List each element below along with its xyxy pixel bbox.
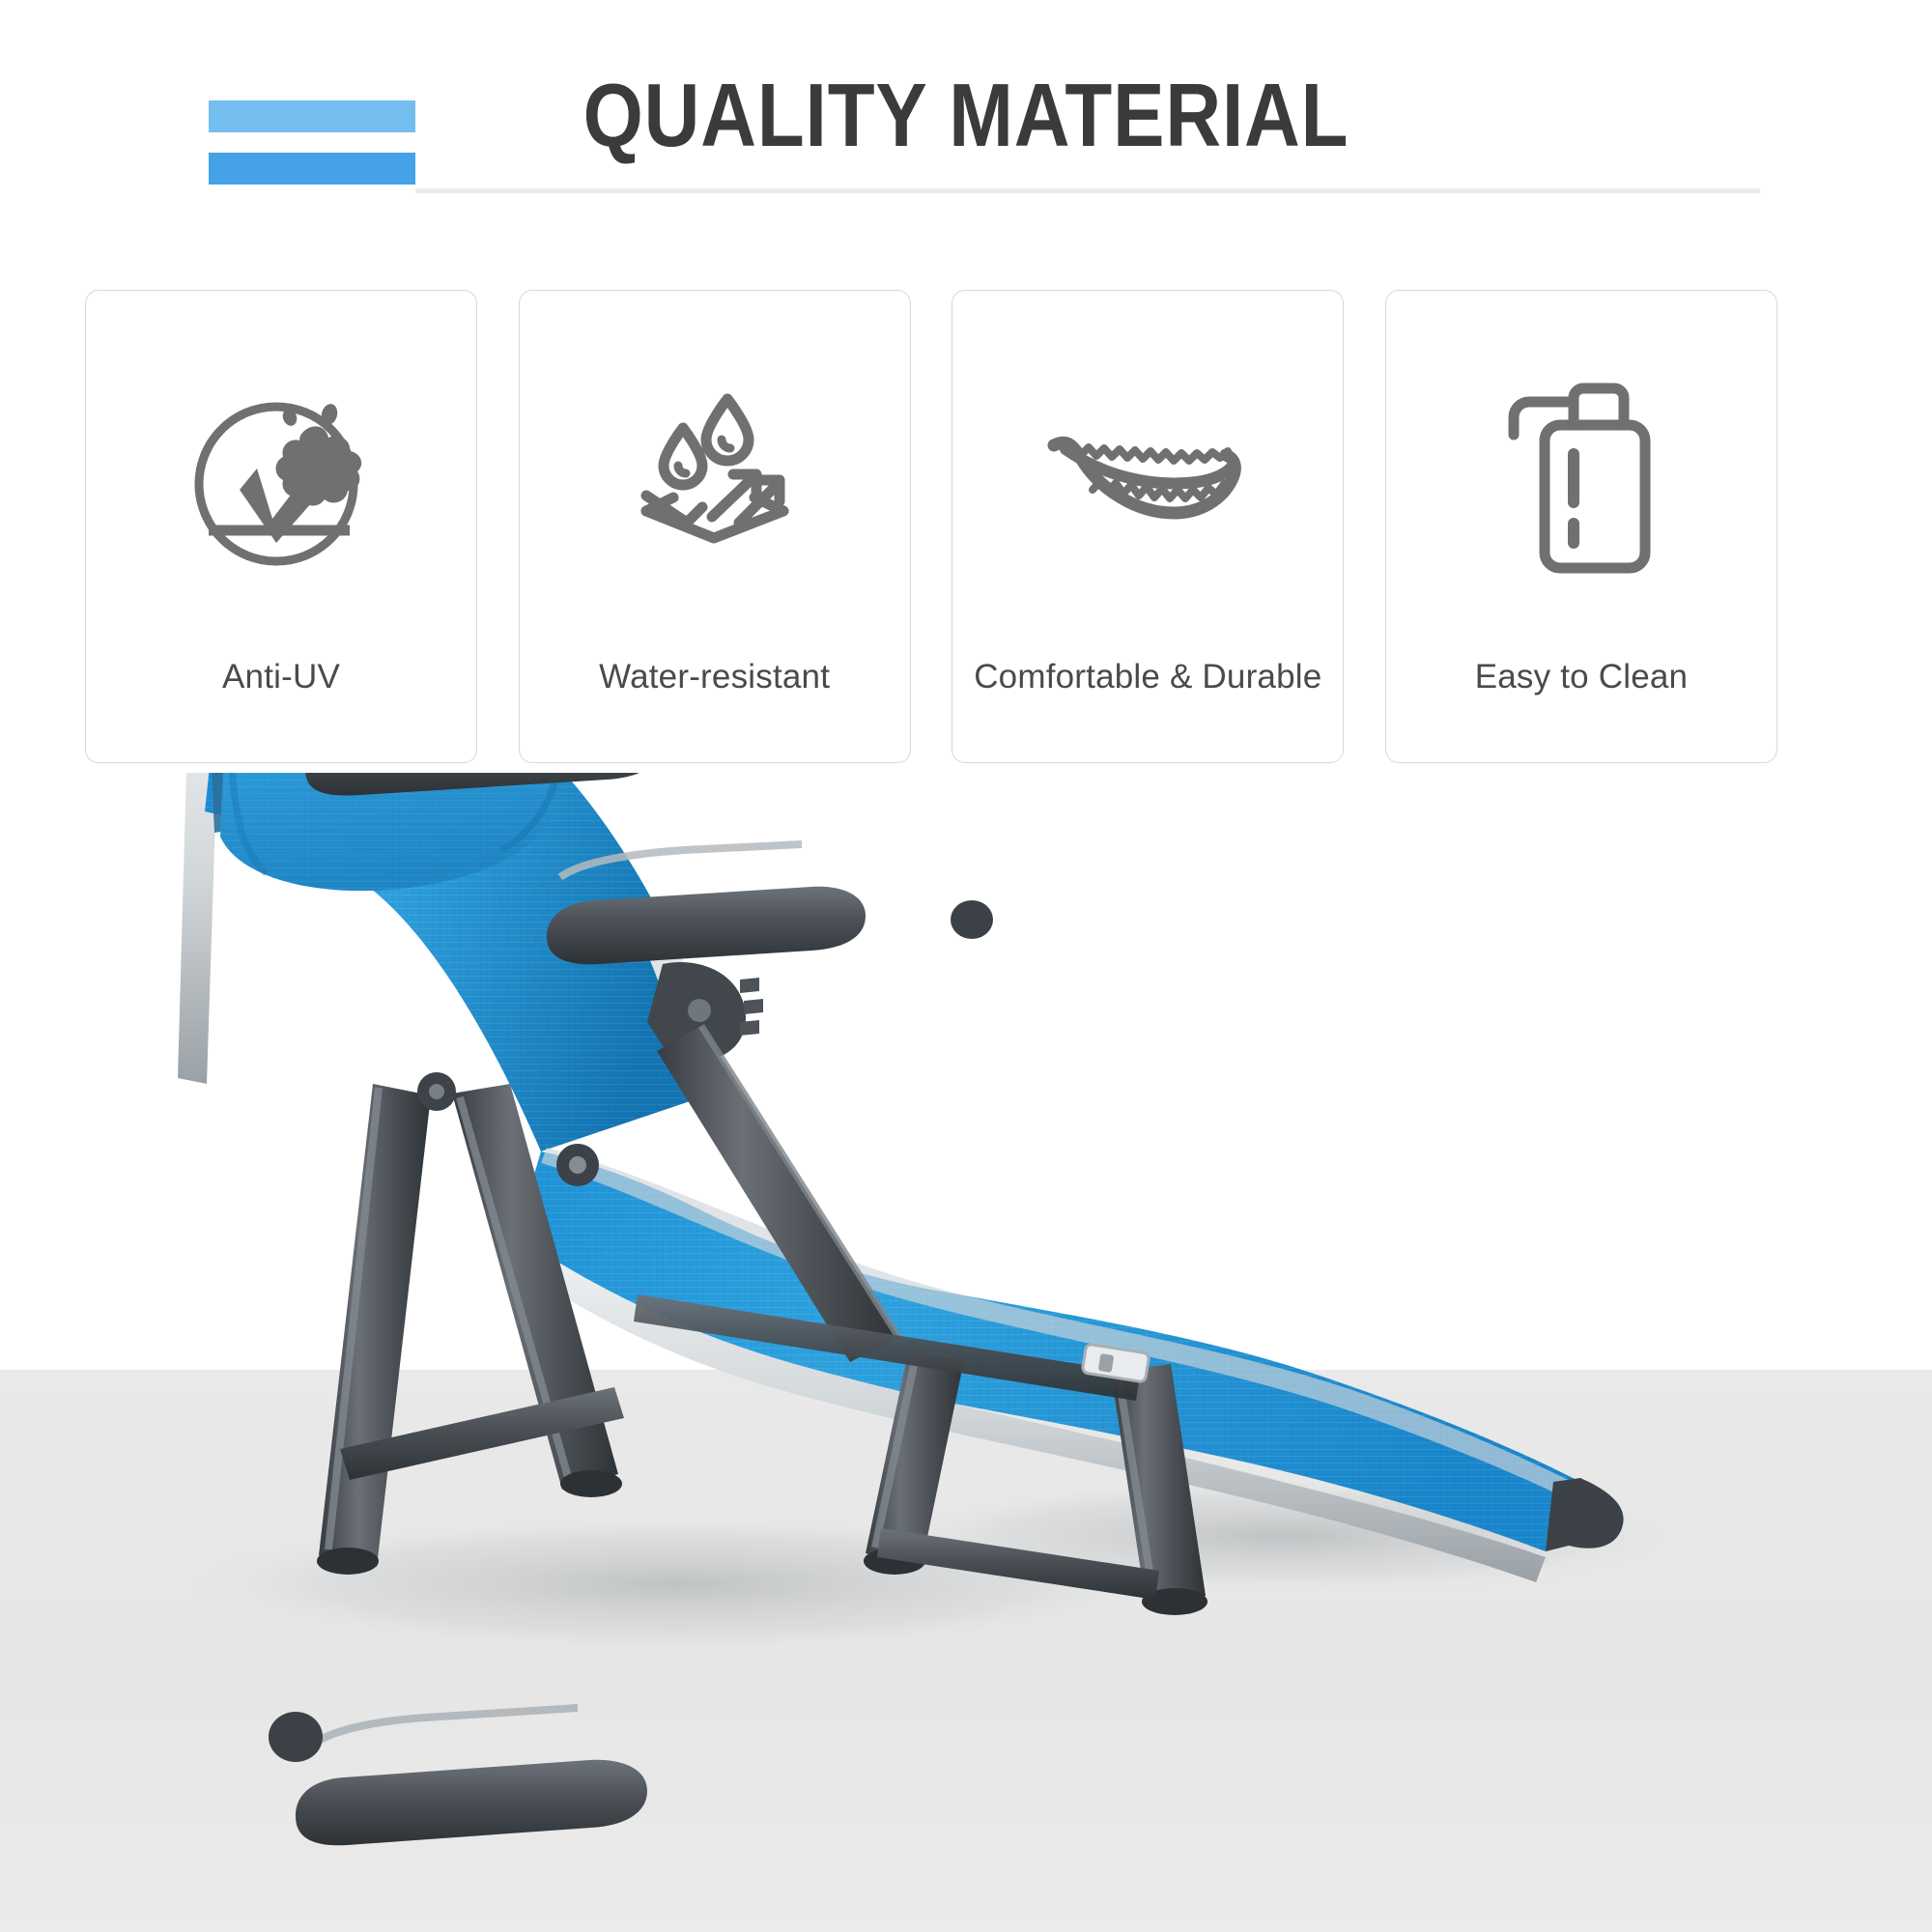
feature-card-comfortable-durable[interactable]: Comfortable & Durable	[952, 290, 1344, 763]
page-title: QUALITY MATERIAL	[135, 62, 1797, 168]
product-photo-area	[0, 773, 1932, 1932]
feature-card-row: Anti-UV W	[85, 290, 1777, 763]
foot-mid	[560, 1470, 622, 1497]
feature-label-comfortable-durable: Comfortable & Durable	[952, 658, 1343, 696]
feature-card-water-resistant[interactable]: Water-resistant	[519, 290, 911, 763]
page-header: QUALITY MATERIAL	[0, 0, 1932, 222]
feature-card-anti-uv[interactable]: Anti-UV	[85, 290, 477, 763]
feature-label-anti-uv: Anti-UV	[86, 658, 476, 696]
header-divider-rule	[415, 188, 1760, 193]
anti-uv-icon	[170, 366, 392, 588]
seat-back-hinge	[556, 1144, 599, 1186]
feature-label-water-resistant: Water-resistant	[520, 658, 910, 696]
easy-to-clean-spray-bottle-icon	[1470, 366, 1692, 588]
armrest-far	[547, 844, 993, 964]
feature-label-easy-to-clean: Easy to Clean	[1386, 658, 1776, 696]
armrest-near-bar	[296, 1760, 647, 1846]
comfortable-durable-icon	[1037, 366, 1259, 588]
water-resistant-icon	[604, 366, 826, 588]
feature-card-easy-to-clean[interactable]: Easy to Clean	[1385, 290, 1777, 763]
seat-right-end-cap	[1546, 1478, 1624, 1551]
chaise-lounge-chair-illustration	[0, 773, 1932, 1932]
foot-left	[317, 1548, 379, 1575]
